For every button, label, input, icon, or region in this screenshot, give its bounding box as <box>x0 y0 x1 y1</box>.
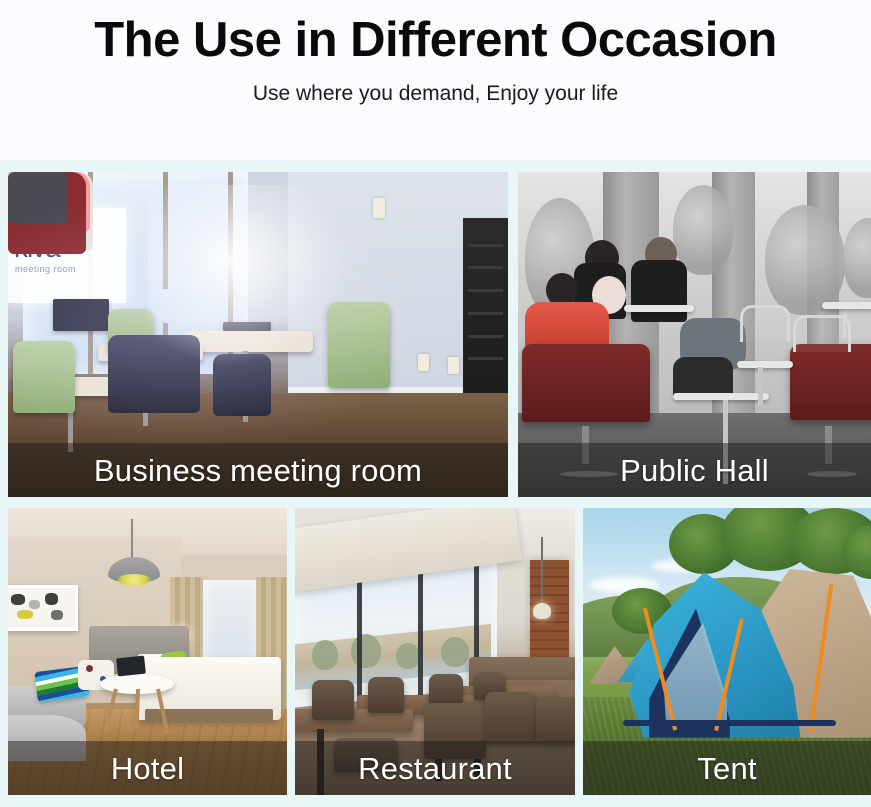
gallery-card-public-hall[interactable]: Public Hall <box>518 172 871 497</box>
tent-photo: Tent <box>583 508 871 795</box>
caption-band-hotel: Hotel <box>8 741 287 795</box>
caption-band-tent: Tent <box>583 741 871 795</box>
hotel-photo: Hotel <box>8 508 287 795</box>
gallery-card-restaurant[interactable]: Restaurant <box>295 508 575 795</box>
gallery-card-tent[interactable]: Tent <box>583 508 871 795</box>
occasion-gallery: kiva meeting room <box>0 0 871 807</box>
restaurant-photo: Restaurant <box>295 508 575 795</box>
caption-business-meeting-room: Business meeting room <box>94 455 422 486</box>
caption-band-public-hall: Public Hall <box>518 443 871 497</box>
gallery-card-business-meeting-room[interactable]: kiva meeting room <box>8 172 508 497</box>
caption-hotel: Hotel <box>111 753 184 784</box>
promo-page: The Use in Different Occasion Use where … <box>0 0 871 807</box>
caption-band-restaurant: Restaurant <box>295 741 575 795</box>
wall-art <box>8 585 78 631</box>
caption-public-hall: Public Hall <box>620 455 769 486</box>
gallery-card-hotel[interactable]: Hotel <box>8 508 287 795</box>
public-hall-photo: Public Hall <box>518 172 871 497</box>
caption-restaurant: Restaurant <box>358 753 512 784</box>
business-meeting-room-photo: kiva meeting room <box>8 172 508 497</box>
caption-band-business: Business meeting room <box>8 443 508 497</box>
caption-tent: Tent <box>697 753 756 784</box>
